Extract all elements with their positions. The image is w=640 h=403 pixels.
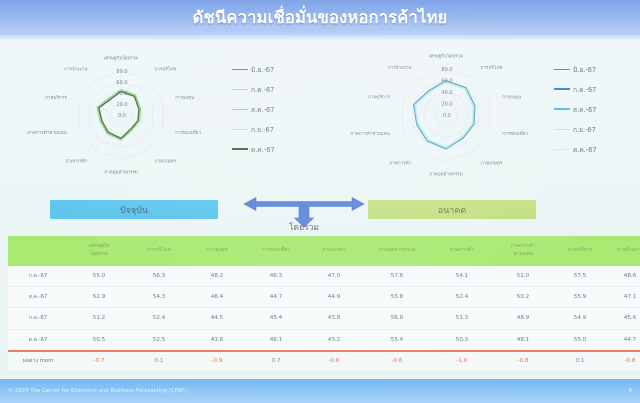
legend-swatch-line: [554, 129, 570, 130]
cell: 43.8: [306, 308, 362, 329]
row-label: ก.ย.-67: [8, 308, 68, 329]
cell-diff: 0.1: [130, 351, 188, 371]
cell: 55.4: [362, 329, 432, 351]
legend-swatch-line: [554, 108, 570, 110]
cell: 51.3: [432, 308, 492, 329]
cell: 51.2: [68, 308, 130, 329]
legend-label: ต.ค.-67: [573, 144, 597, 155]
slide-header: ดัชนีความเชื่อมั่นของหอการค้าไทย: [0, 0, 640, 35]
legend-item[interactable]: ส.ค.-67: [554, 99, 626, 119]
cell: 45.4: [246, 308, 306, 329]
svg-text:60.0: 60.0: [441, 78, 452, 84]
legend-swatch-line: [554, 149, 570, 150]
legend-item[interactable]: ก.ย.-67: [232, 119, 304, 139]
cell: 50.5: [68, 329, 130, 351]
table-row: ก.ย.-67 51.2 52.4 44.5 45.4 43.8 56.0 51…: [8, 308, 640, 329]
cell: 46.3: [246, 266, 306, 287]
present-radar-chart: 0.020.040.060.080.0เศรษฐกิจโดยรวมการบริโ…: [8, 41, 236, 193]
svg-text:80.0: 80.0: [441, 67, 452, 73]
table-row: ก.ค.-67 55.0 56.3 48.2 46.3 47.0 57.6 54…: [8, 266, 640, 287]
cell: 56.0: [362, 308, 432, 329]
cell: 57.5: [554, 266, 606, 287]
charts-band: 0.020.040.060.080.0เศรษฐกิจโดยรวมการบริโ…: [0, 41, 640, 193]
cell: 43.6: [188, 329, 246, 351]
legend-label: ก.ค.-67: [251, 84, 274, 95]
cell: 55.8: [362, 287, 432, 308]
present-radar-svg: 0.020.040.060.080.0เศรษฐกิจโดยรวมการบริโ…: [8, 41, 236, 193]
copyright-text: © 2024 The Center for Economic and Busin…: [8, 388, 187, 394]
legend-item[interactable]: ส.ค.-67: [232, 99, 304, 119]
cell: 48.2: [188, 266, 246, 287]
svg-text:การลงทุน: การลงทุน: [502, 94, 522, 100]
cell: 57.6: [362, 266, 432, 287]
present-legend: มิ.ย.-67 ก.ค.-67 ส.ค.-67 ก.ย.-67 ต.ค.-67: [232, 59, 304, 159]
cell: 52.4: [130, 308, 188, 329]
col-head-trade: ภาคการค้า: [432, 236, 492, 266]
future-radar-svg: 0.020.040.060.080.0เศรษฐกิจโดยรวมการบริโ…: [338, 41, 566, 193]
svg-text:การบริโภค: การบริโภค: [155, 65, 177, 72]
legend-item[interactable]: ก.ค.-67: [232, 79, 304, 99]
legend-label: ก.ย.-67: [251, 124, 274, 135]
cell: 48.9: [492, 308, 554, 329]
cell: 43.2: [306, 329, 362, 351]
table-head: เศรษฐกิจ โดยรวม การบริโภค การลงทุน การท่…: [8, 236, 640, 266]
cell: 55.0: [554, 329, 606, 351]
svg-text:การจ้างงาน: การจ้างงาน: [388, 65, 412, 71]
cell-diff: -1.0: [432, 351, 492, 371]
svg-text:การลงทุน: การลงทุน: [175, 95, 195, 101]
legend-item[interactable]: ก.ค.-67: [554, 79, 626, 99]
col-head-services: ภาคบริการ: [554, 236, 606, 266]
col-head-industry: ภาคอุตสาหกรรม: [362, 236, 432, 266]
cell: 44.5: [188, 308, 246, 329]
cell: 48.1: [492, 329, 554, 351]
svg-text:ภาคการค้าชายแดน: ภาคการค้าชายแดน: [350, 131, 390, 137]
future-radar-chart: 0.020.040.060.080.0เศรษฐกิจโดยรวมการบริโ…: [338, 41, 566, 193]
comparison-band: ปัจจุบัน โดยรวม อนาคต: [0, 196, 640, 234]
legend-item[interactable]: ต.ค.-67: [232, 139, 304, 159]
cell-diff: -0.7: [68, 351, 130, 371]
table-row: ส.ค.-67 52.9 54.3 46.4 44.7 44.9 55.8 52…: [8, 287, 640, 308]
legend-label: ก.ค.-67: [573, 84, 596, 95]
svg-text:ภาคเกษตร: ภาคเกษตร: [155, 159, 177, 165]
svg-text:ภาคเกษตร: ภาคเกษตร: [481, 160, 503, 166]
cell-diff: -0.6: [306, 351, 362, 371]
page-number: 6: [629, 388, 632, 394]
col-head-line1: ภาคการค้า: [511, 243, 536, 249]
cell: 48.6: [606, 266, 640, 287]
legend-swatch-line: [232, 89, 248, 90]
cell: 52.0: [492, 266, 554, 287]
cell: 54.3: [130, 287, 188, 308]
svg-text:เศรษฐกิจโดยรวม: เศรษฐกิจโดยรวม: [429, 53, 463, 60]
col-head-consumption: การบริโภค: [130, 236, 188, 266]
legend-label: ส.ค.-67: [573, 104, 596, 115]
confidence-index-table: เศรษฐกิจ โดยรวม การบริโภค การลงทุน การท่…: [8, 236, 640, 371]
svg-text:ภาคบริการ: ภาคบริการ: [368, 94, 390, 100]
svg-text:40.0: 40.0: [441, 90, 452, 96]
col-head-overall-economy: เศรษฐกิจ โดยรวม: [68, 236, 130, 266]
col-head-tourism: การท่องเที่ยว: [246, 236, 306, 266]
cell: 47.1: [606, 287, 640, 308]
present-pill[interactable]: ปัจจุบัน: [50, 200, 218, 219]
future-pill[interactable]: อนาคต: [368, 200, 536, 219]
legend-label: ส.ค.-67: [251, 104, 274, 115]
legend-label: ต.ค.-67: [251, 144, 275, 155]
cell: 52.9: [68, 287, 130, 308]
legend-swatch-line: [232, 109, 248, 110]
cell: 45.6: [606, 308, 640, 329]
legend-swatch-line: [554, 88, 570, 90]
svg-text:ภาคอุตสาหกรรม: ภาคอุตสาหกรรม: [104, 170, 138, 176]
legend-item[interactable]: ก.ย.-67: [554, 119, 626, 139]
svg-text:20.0: 20.0: [116, 102, 127, 108]
future-chart-panel: 0.020.040.060.080.0เศรษฐกิจโดยรวมการบริโ…: [338, 41, 638, 193]
future-pill-label: อนาคต: [438, 203, 466, 217]
row-label: ต.ค.-67: [8, 329, 68, 351]
cell-diff: -0.8: [492, 351, 554, 371]
svg-text:การท่องเที่ยว: การท่องเที่ยว: [502, 130, 528, 137]
cell: 44.7: [246, 287, 306, 308]
legend-item[interactable]: มิ.ย.-67: [554, 59, 626, 79]
present-pill-label: ปัจจุบัน: [120, 203, 148, 217]
legend-label: มิ.ย.-67: [573, 64, 596, 75]
confidence-table-wrap: เศรษฐกิจ โดยรวม การบริโภค การลงทุน การท่…: [8, 236, 632, 368]
legend-item[interactable]: มิ.ย.-67: [232, 59, 304, 79]
cell: 56.3: [130, 266, 188, 287]
svg-text:20.0: 20.0: [441, 101, 452, 107]
cell: 50.3: [432, 329, 492, 351]
legend-swatch-line: [232, 69, 248, 70]
col-head-line2: ชายแดน: [513, 251, 532, 257]
cell: 55.9: [554, 287, 606, 308]
cell: 46.1: [246, 329, 306, 351]
future-legend: มิ.ย.-67 ก.ค.-67 ส.ค.-67 ก.ย.-67 ต.ค.-67: [554, 59, 626, 159]
legend-swatch-line: [232, 148, 248, 150]
cell: 44.7: [606, 329, 640, 351]
svg-text:การบริโภค: การบริโภค: [481, 64, 503, 71]
col-head-line1: เศรษฐกิจ: [89, 243, 109, 249]
svg-text:ภาคการค้าชายแดน: ภาคการค้าชายแดน: [27, 130, 67, 136]
col-head-agriculture: ภาคเกษตร: [306, 236, 362, 266]
col-head-border-trade: ภาคการค้า ชายแดน: [492, 236, 554, 266]
cell: 54.1: [432, 266, 492, 287]
svg-text:80.0: 80.0: [116, 69, 127, 75]
cell-diff: -0.9: [188, 351, 246, 371]
col-head-investment: การลงทุน: [188, 236, 246, 266]
col-head-period: [8, 236, 68, 266]
col-head-employment: การจ้างงาน: [606, 236, 640, 266]
table-row-diff: ผลต่าง mom -0.7 0.1 -0.9 0.7 -0.6 -0.6 -…: [8, 351, 640, 371]
cell: 52.5: [130, 329, 188, 351]
svg-text:0.0: 0.0: [118, 113, 126, 119]
svg-text:เศรษฐกิจโดยรวม: เศรษฐกิจโดยรวม: [104, 55, 138, 62]
overall-label: โดยรวม: [240, 220, 368, 234]
legend-label: ก.ย.-67: [573, 124, 596, 135]
table-body: ก.ค.-67 55.0 56.3 48.2 46.3 47.0 57.6 54…: [8, 266, 640, 371]
svg-text:ภาคการค้า: ภาคการค้า: [65, 159, 88, 165]
cell: 55.0: [68, 266, 130, 287]
legend-swatch-line: [232, 129, 248, 130]
legend-label: มิ.ย.-67: [251, 64, 274, 75]
svg-text:ภาคบริการ: ภาคบริการ: [45, 95, 67, 101]
cell: 46.4: [188, 287, 246, 308]
cell-diff: -0.6: [362, 351, 432, 371]
cell: 50.2: [492, 287, 554, 308]
svg-text:การจ้างงาน: การจ้างงาน: [64, 66, 88, 72]
cell-diff: 0.7: [246, 351, 306, 371]
svg-text:0.0: 0.0: [443, 113, 451, 119]
svg-text:การท่องเที่ยว: การท่องเที่ยว: [175, 129, 201, 136]
slide-root: ดัชนีความเชื่อมั่นของหอการค้าไทย 0.020.0…: [0, 0, 640, 403]
svg-text:ภาคอุตสาหกรรม: ภาคอุตสาหกรรม: [429, 172, 463, 178]
table-header-row: เศรษฐกิจ โดยรวม การบริโภค การลงทุน การท่…: [8, 236, 640, 266]
svg-text:ภาคการค้า: ภาคการค้า: [389, 160, 412, 166]
row-label: ส.ค.-67: [8, 287, 68, 308]
slide-footer: © 2024 The Center for Economic and Busin…: [0, 379, 640, 403]
legend-item[interactable]: ต.ค.-67: [554, 139, 626, 159]
cell-diff: 0.1: [554, 351, 606, 371]
cell-diff: -0.8: [606, 351, 640, 371]
legend-swatch-line: [554, 69, 570, 70]
cell: 52.4: [432, 287, 492, 308]
col-head-line2: โดยรวม: [90, 251, 108, 257]
cell: 47.0: [306, 266, 362, 287]
svg-text:60.0: 60.0: [116, 80, 127, 86]
page-title: ดัชนีความเชื่อมั่นของหอการค้าไทย: [193, 5, 448, 31]
cell: 54.9: [554, 308, 606, 329]
svg-text:40.0: 40.0: [116, 91, 127, 97]
table-row: ต.ค.-67 50.5 52.5 43.6 46.1 43.2 55.4 50…: [8, 329, 640, 351]
present-chart-panel: 0.020.040.060.080.0เศรษฐกิจโดยรวมการบริโ…: [8, 41, 308, 193]
row-label: ก.ค.-67: [8, 266, 68, 287]
row-label-diff: ผลต่าง mom: [8, 351, 68, 371]
cell: 44.9: [306, 287, 362, 308]
